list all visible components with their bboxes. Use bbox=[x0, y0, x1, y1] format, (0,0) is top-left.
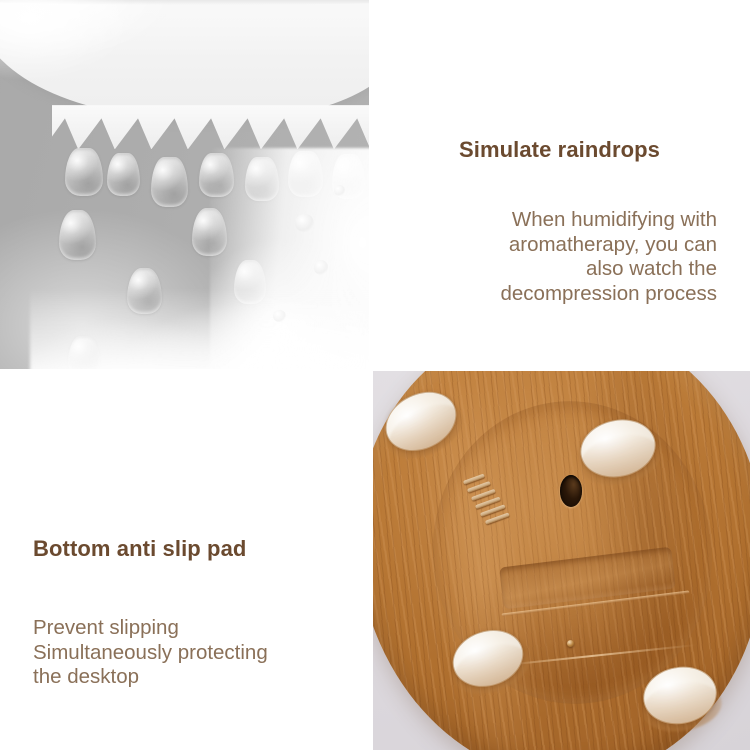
anti-slip-pad-text-panel: Bottom anti slip pad Prevent slipping Si… bbox=[0, 369, 373, 750]
anti-slip-pad-body-text: Prevent slipping Simultaneously protecti… bbox=[33, 616, 363, 690]
mist-bubble bbox=[273, 310, 286, 323]
raindrop-body-text: When humidifying with aromatherapy, you … bbox=[383, 208, 717, 306]
water-droplet-falling bbox=[59, 210, 96, 260]
raindrop-photo-panel bbox=[0, 0, 369, 369]
water-droplet-pendant bbox=[65, 148, 104, 196]
raindrop-photo bbox=[0, 0, 369, 369]
anti-slip-pad-headline: Bottom anti slip pad bbox=[33, 536, 246, 562]
mist-bubble bbox=[334, 185, 345, 196]
water-droplet-pendant bbox=[107, 153, 140, 195]
mist-bubble bbox=[295, 214, 313, 232]
anti-slip-pad-photo bbox=[373, 371, 750, 750]
anti-slip-pad-photo-panel bbox=[373, 371, 750, 750]
water-droplet-pendant bbox=[151, 157, 188, 207]
raindrop-headline: Simulate raindrops bbox=[369, 137, 750, 163]
mist-bubble bbox=[314, 260, 329, 275]
highlight-wash-top-left bbox=[0, 0, 133, 81]
mist-plume-bottom bbox=[30, 288, 369, 369]
product-feature-collage: Simulate raindrops When humidifying with… bbox=[0, 0, 750, 750]
raindrop-text-panel: Simulate raindrops When humidifying with… bbox=[369, 0, 750, 369]
